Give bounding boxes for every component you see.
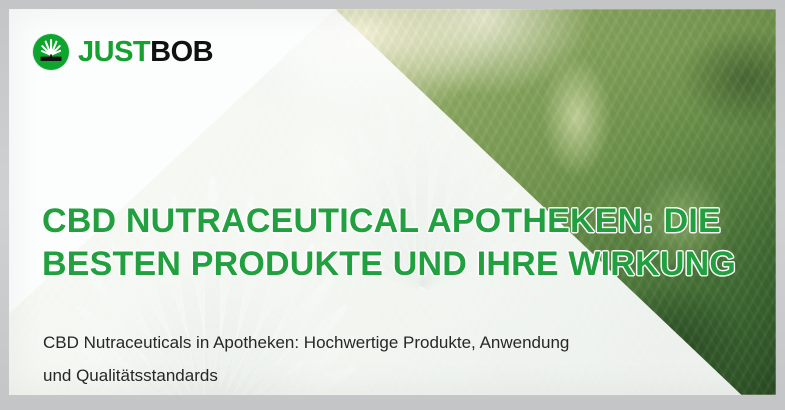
brand-name-bob: BOB: [150, 36, 213, 68]
page-subtitle-line-2: und Qualitätsstandards: [43, 359, 703, 392]
cannabis-leaf-circle-icon: [33, 34, 69, 70]
page-title-line-1: CBD NUTRACEUTICAL APOTHEKEN: DIE: [42, 200, 762, 244]
page-title-line-2: BESTEN PRODUKTE UND IHRE WIRKUNG: [42, 243, 762, 287]
hero-banner: JUSTBOB CBD NUTRACEUTICAL APOTHEKEN: DIE…: [9, 9, 776, 395]
brand-name-just: JUST: [78, 36, 150, 68]
page-frame: JUSTBOB CBD NUTRACEUTICAL APOTHEKEN: DIE…: [0, 0, 785, 410]
page-title: CBD NUTRACEUTICAL APOTHEKEN: DIE BESTEN …: [42, 200, 762, 287]
brand-wordmark: JUSTBOB: [78, 38, 213, 67]
page-subtitle-line-1: CBD Nutraceuticals in Apotheken: Hochwer…: [43, 326, 703, 359]
page-subtitle: CBD Nutraceuticals in Apotheken: Hochwer…: [43, 326, 703, 392]
brand-logo[interactable]: JUSTBOB: [33, 34, 213, 70]
